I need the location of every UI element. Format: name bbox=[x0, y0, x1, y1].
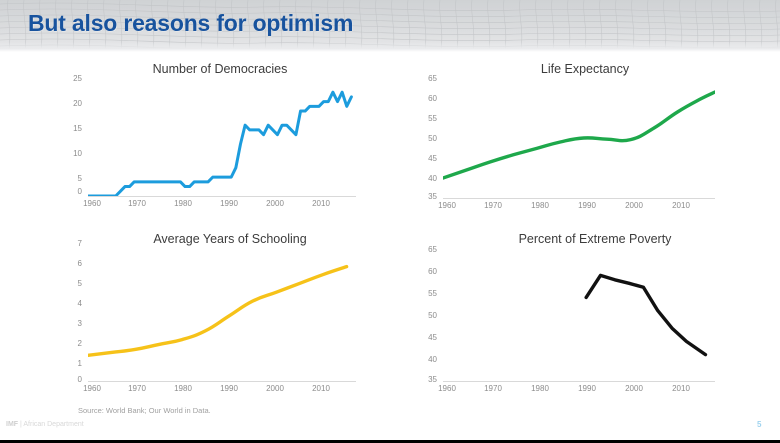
y-tick-label: 40 bbox=[415, 356, 437, 364]
x-tick-label: 1980 bbox=[520, 202, 560, 210]
y-tick-label: 1 bbox=[60, 360, 82, 368]
x-tick-label: 1960 bbox=[427, 385, 467, 393]
y-tick-label: 7 bbox=[60, 240, 82, 248]
header-bottom-fade bbox=[0, 42, 780, 52]
x-tick-label: 1970 bbox=[473, 202, 513, 210]
y-tick-label: 20 bbox=[60, 100, 82, 108]
x-tick-label: 2000 bbox=[614, 202, 654, 210]
x-tick-label: 1990 bbox=[209, 385, 249, 393]
chart-average-years-of-schooling: Average Years of Schooling 7 6 5 4 3 2 1… bbox=[60, 228, 380, 393]
y-tick-label: 2 bbox=[60, 340, 82, 348]
y-tick-label: 65 bbox=[415, 75, 437, 83]
chart-percent-of-extreme-poverty: Percent of Extreme Poverty 65 60 55 50 4… bbox=[415, 228, 745, 393]
x-tick-label: 2000 bbox=[614, 385, 654, 393]
chart-life-expectancy: Life Expectancy 65 60 55 50 45 40 35 196… bbox=[415, 60, 745, 215]
x-axis-line bbox=[88, 381, 356, 382]
y-tick-label: 50 bbox=[415, 135, 437, 143]
plot-area bbox=[443, 78, 715, 198]
plot-area bbox=[88, 78, 356, 196]
x-tick-label: 1970 bbox=[117, 385, 157, 393]
x-tick-label: 1980 bbox=[520, 385, 560, 393]
x-tick-label: 1960 bbox=[72, 200, 112, 208]
page-number: 5 bbox=[757, 420, 761, 429]
footer-org: IMF bbox=[6, 421, 18, 428]
y-tick-label: 10 bbox=[60, 150, 82, 158]
x-tick-label: 2010 bbox=[301, 200, 341, 208]
slide-header-banner: But also reasons for optimism bbox=[0, 0, 780, 52]
y-tick-label: 40 bbox=[415, 175, 437, 183]
y-tick-label: 5 bbox=[60, 280, 82, 288]
footer-department: African Department bbox=[23, 421, 83, 428]
x-tick-label: 2010 bbox=[661, 385, 701, 393]
chart-title: Percent of Extreme Poverty bbox=[470, 232, 720, 246]
x-tick-label: 1990 bbox=[567, 385, 607, 393]
y-tick-label: 25 bbox=[60, 75, 82, 83]
y-tick-label: 45 bbox=[415, 334, 437, 342]
y-tick-label: 55 bbox=[415, 115, 437, 123]
x-axis-line bbox=[443, 381, 715, 382]
x-tick-label: 1970 bbox=[473, 385, 513, 393]
line-series bbox=[443, 78, 715, 198]
y-tick-label: 50 bbox=[415, 312, 437, 320]
x-axis-line bbox=[443, 198, 715, 199]
y-tick-label: 0 bbox=[60, 188, 82, 196]
slide-canvas: But also reasons for optimism Number of … bbox=[0, 0, 780, 440]
x-tick-label: 1990 bbox=[567, 202, 607, 210]
x-tick-label: 1960 bbox=[72, 385, 112, 393]
chart-number-of-democracies: Number of Democracies 25 20 15 10 5 0 19… bbox=[60, 60, 380, 215]
y-tick-label: 55 bbox=[415, 290, 437, 298]
footer-attribution: IMF | African Department bbox=[6, 421, 84, 428]
y-tick-label: 15 bbox=[60, 125, 82, 133]
page-title: But also reasons for optimism bbox=[28, 10, 353, 37]
source-note: Source: World Bank; Our World in Data. bbox=[78, 406, 211, 415]
y-tick-label: 45 bbox=[415, 155, 437, 163]
line-series bbox=[443, 249, 715, 381]
chart-title: Number of Democracies bbox=[105, 62, 335, 76]
x-tick-label: 1990 bbox=[209, 200, 249, 208]
plot-area bbox=[443, 249, 715, 381]
y-tick-label: 65 bbox=[415, 246, 437, 254]
y-tick-label: 4 bbox=[60, 300, 82, 308]
y-tick-label: 35 bbox=[415, 193, 437, 201]
x-tick-label: 1980 bbox=[163, 385, 203, 393]
x-tick-label: 1980 bbox=[163, 200, 203, 208]
y-tick-label: 60 bbox=[415, 268, 437, 276]
y-tick-label: 0 bbox=[60, 376, 82, 384]
x-tick-label: 2000 bbox=[255, 385, 295, 393]
x-tick-label: 2010 bbox=[661, 202, 701, 210]
plot-area bbox=[88, 243, 356, 381]
x-tick-label: 2000 bbox=[255, 200, 295, 208]
y-tick-label: 6 bbox=[60, 260, 82, 268]
line-series bbox=[88, 243, 356, 381]
x-axis-line bbox=[88, 196, 356, 197]
x-tick-label: 2010 bbox=[301, 385, 341, 393]
x-tick-label: 1960 bbox=[427, 202, 467, 210]
x-tick-label: 1970 bbox=[117, 200, 157, 208]
y-tick-label: 3 bbox=[60, 320, 82, 328]
chart-title: Life Expectancy bbox=[470, 62, 700, 76]
y-tick-label: 60 bbox=[415, 95, 437, 103]
y-tick-label: 35 bbox=[415, 376, 437, 384]
footer-bar bbox=[0, 430, 780, 443]
line-series bbox=[88, 78, 356, 196]
y-tick-label: 5 bbox=[60, 175, 82, 183]
